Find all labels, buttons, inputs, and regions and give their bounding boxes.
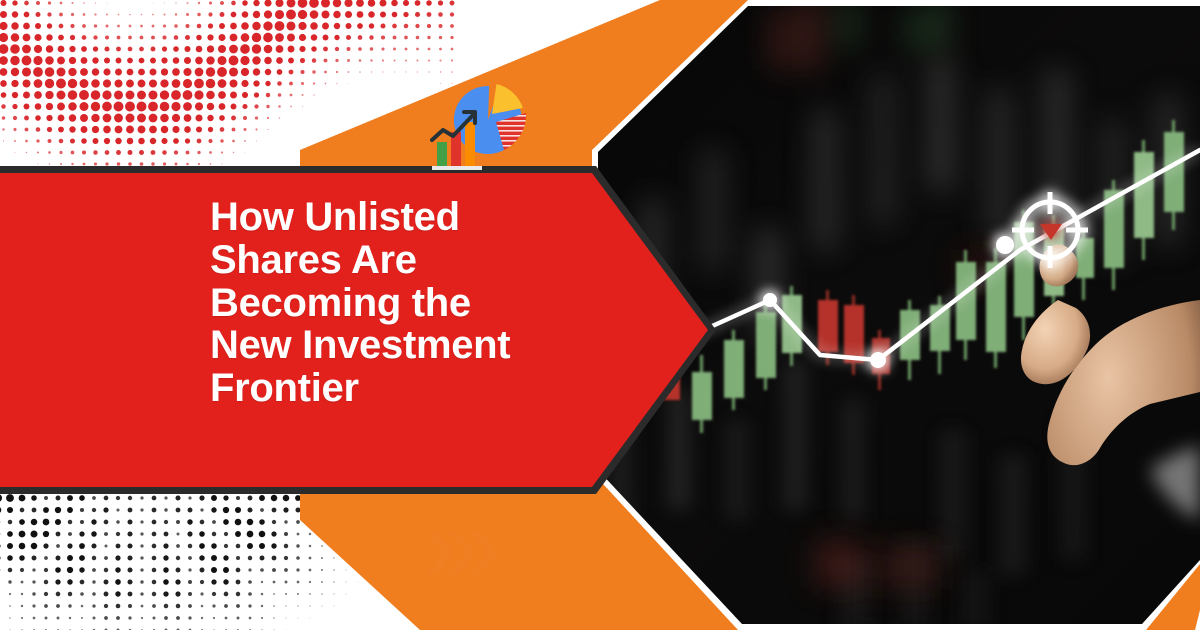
- title-heading: How Unlisted Shares Are Becoming the New…: [210, 196, 610, 410]
- title-line-3: Becoming the: [210, 281, 471, 325]
- page-title: How Unlisted Shares Are Becoming the New…: [210, 196, 610, 410]
- analytics-pie-bar-icon: [426, 78, 542, 174]
- banner-canvas: How Unlisted Shares Are Becoming the New…: [0, 0, 1200, 630]
- title-line-2: Shares Are: [210, 238, 417, 282]
- pie-chart-glyph: [453, 84, 526, 155]
- title-line-1: How Unlisted: [210, 195, 460, 239]
- bar-baseline: [432, 166, 482, 170]
- chevron-1: [426, 532, 454, 574]
- title-line-5: Frontier: [210, 366, 359, 410]
- bar-orange: [465, 122, 475, 166]
- triple-chevron-icon: [424, 528, 500, 578]
- title-line-4: New Investment: [210, 323, 510, 367]
- bar-green: [437, 142, 447, 166]
